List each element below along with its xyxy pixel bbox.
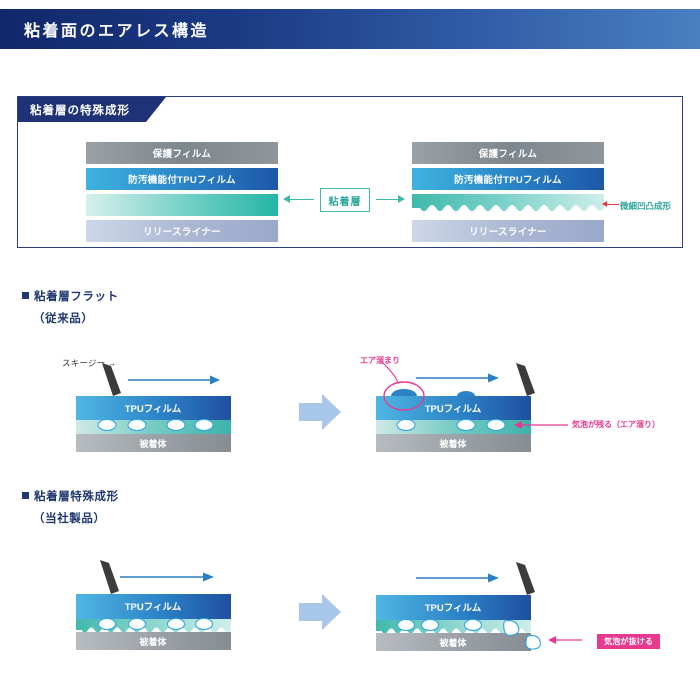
- svg-text:被着体: 被着体: [439, 637, 467, 648]
- layer-adhesive-textured: [412, 194, 604, 216]
- page-title: 粘着面のエアレス構造: [0, 17, 209, 41]
- layer-adhesive-flat: [86, 194, 278, 216]
- callout-arrow-right-head-icon: [398, 195, 405, 203]
- layer-release-liner: リリースライナー: [412, 220, 604, 242]
- section-flat-heading-text: 粘着層フラット: [34, 291, 119, 303]
- bullet-square-icon: [22, 292, 29, 299]
- flow-arrow-special-icon: [299, 592, 341, 637]
- svg-text:TPUフィルム: TPUフィルム: [425, 603, 482, 614]
- box-tab-label: 粘着層の特殊成形: [18, 97, 166, 122]
- layer-release-liner: リリースライナー: [86, 220, 278, 242]
- micro-structure-label: 微細凹凸成形: [620, 200, 671, 212]
- section-flat-subheading: （従来品）: [33, 310, 94, 326]
- page-banner: 粘着面のエアレス構造: [0, 9, 700, 49]
- squeegee-label: スキージー →: [62, 357, 117, 369]
- air-pocket-label: エア溜まり: [360, 355, 400, 366]
- layer-stack-left: 保護フィルム 防汚機能付TPUフィルム リリースライナー: [86, 142, 278, 246]
- layer-tpu-film: 防汚機能付TPUフィルム: [412, 168, 604, 190]
- adhesive-layer-callout: 粘着層: [320, 188, 370, 212]
- section-flat-heading: 粘着層フラット: [22, 288, 119, 304]
- callout-arrow-left-head-icon: [283, 195, 290, 203]
- special-left-panel: TPUフィルム 被着体: [58, 550, 288, 655]
- bullet-square-icon: [22, 492, 29, 499]
- section-special-heading-text: 粘着層特殊成形: [34, 491, 119, 503]
- svg-text:被着体: 被着体: [139, 636, 167, 647]
- layer-protective-film: 保護フィルム: [412, 142, 604, 164]
- section-special-subheading: （当社製品）: [33, 510, 106, 526]
- layer-stack-right: 保護フィルム 防汚機能付TPUフィルム リリースライナー: [412, 142, 604, 246]
- bubbles-escape-badge: 気泡が抜ける: [597, 631, 660, 649]
- bubbles-remain-label: 気泡が残る（エア溜り）: [572, 419, 660, 430]
- section-special-heading: 粘着層特殊成形: [22, 488, 119, 504]
- bubbles-escape-label: 気泡が抜ける: [597, 634, 660, 649]
- callout-arrow-left-line: [286, 199, 314, 200]
- flow-arrow-flat-icon: [299, 392, 341, 437]
- svg-text:被着体: 被着体: [139, 438, 167, 449]
- layer-protective-film: 保護フィルム: [86, 142, 278, 164]
- svg-text:被着体: 被着体: [439, 438, 467, 449]
- layer-tpu-film: 防汚機能付TPUフィルム: [86, 168, 278, 190]
- svg-text:TPUフィルム: TPUフィルム: [125, 602, 182, 613]
- flat-right-panel: TPUフィルム 被着体: [368, 350, 628, 455]
- micro-structure-arrow-icon: [606, 204, 619, 205]
- svg-text:TPUフィルム: TPUフィルム: [125, 404, 182, 415]
- svg-text:TPUフィルム: TPUフィルム: [425, 404, 482, 415]
- page-root: 粘着面のエアレス構造 粘着層の特殊成形 保護フィルム 防汚機能付TPUフィルム …: [0, 0, 700, 700]
